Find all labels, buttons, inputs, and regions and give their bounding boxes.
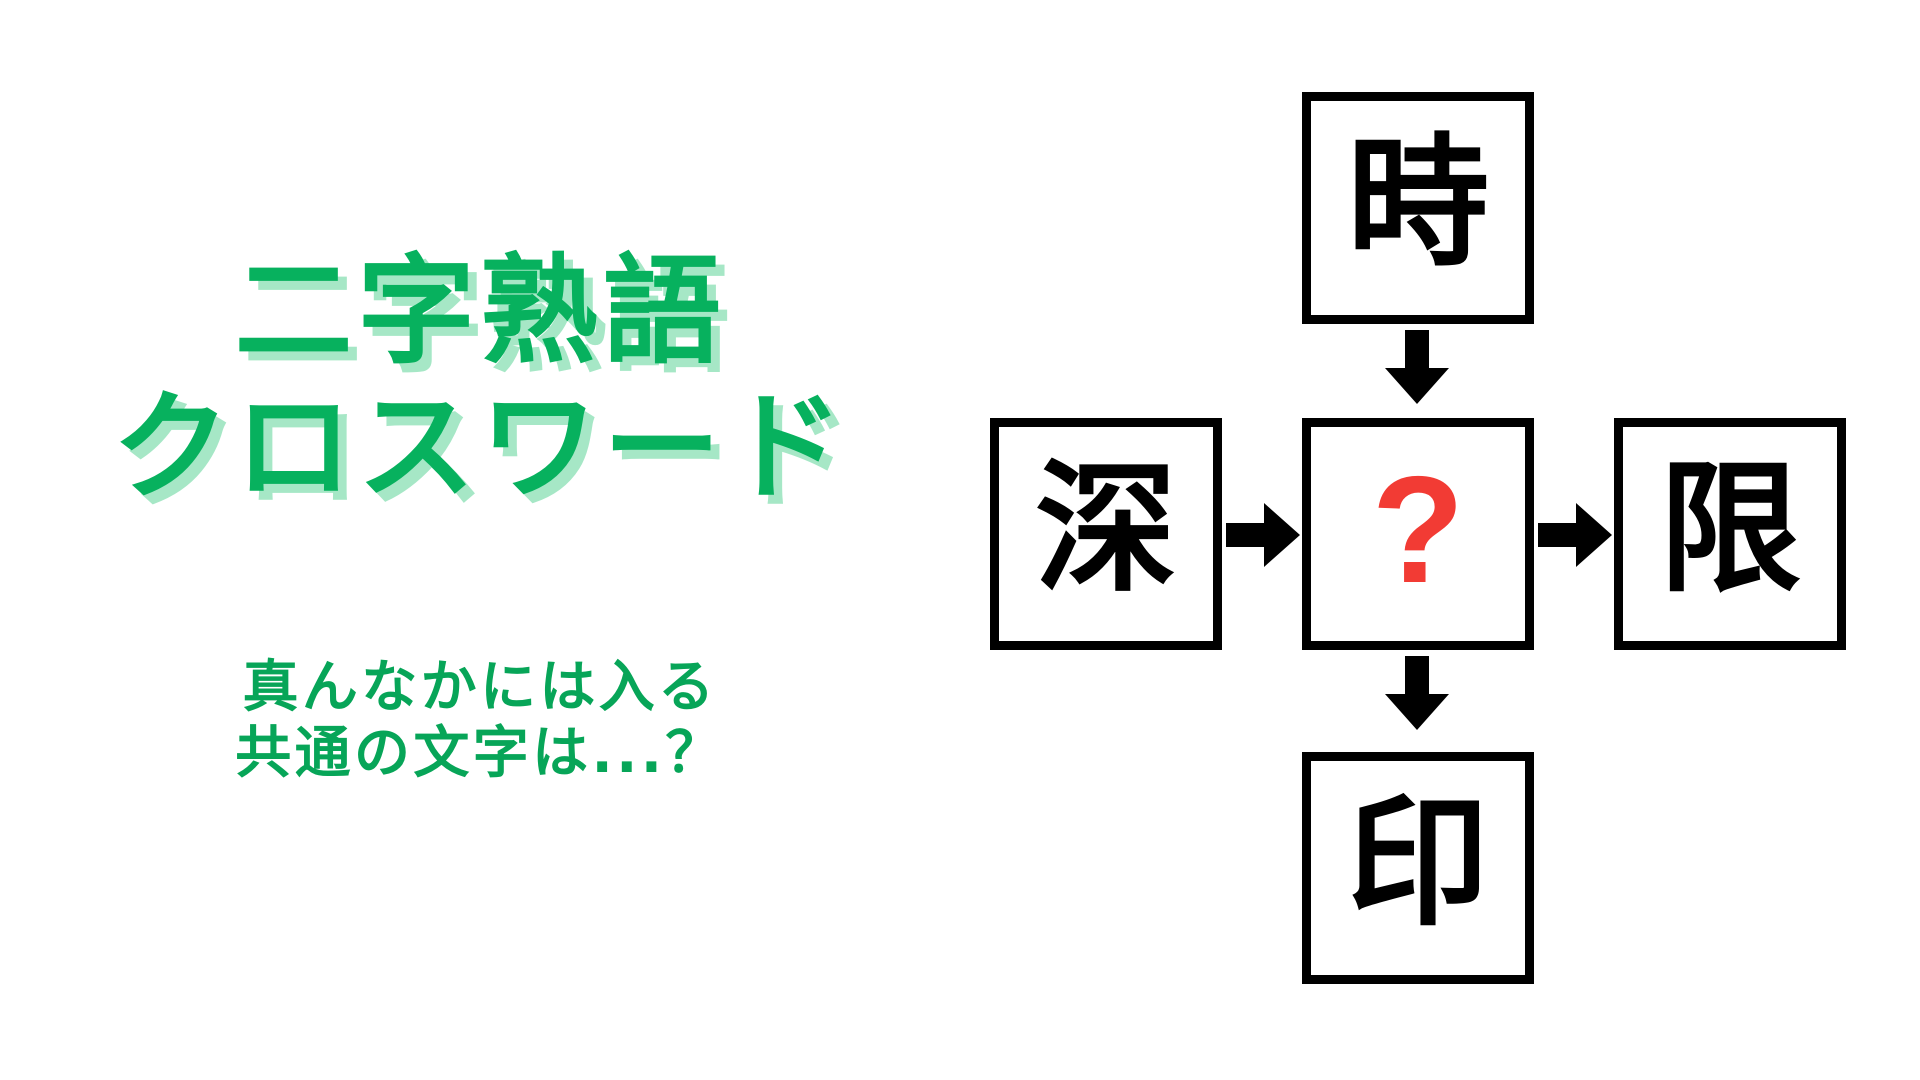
puzzle-cell-left-glyph: 深 <box>1035 459 1177 601</box>
arrow-right-icon-right <box>1538 498 1612 572</box>
title-line-secondary: クロスワード <box>0 388 960 506</box>
slide-canvas: 二字熟語 クロスワード 真んなかには入る 共通の文字は...？ 時 深 <box>0 0 1920 1080</box>
puzzle-cell-center[interactable]: ? <box>1302 418 1534 650</box>
puzzle-cell-left[interactable]: 深 <box>990 418 1222 650</box>
arrow-down-icon-top <box>1380 330 1454 404</box>
arrow-down-icon-bottom <box>1380 656 1454 730</box>
title-line-primary: 二字熟語 <box>0 252 960 370</box>
puzzle-cell-top-glyph: 時 <box>1347 133 1489 275</box>
title-panel: 二字熟語 クロスワード 真んなかには入る 共通の文字は...？ <box>0 0 980 1080</box>
subtitle-line-2: 共通の文字は...？ <box>0 721 960 787</box>
crossword-diagram: 時 深 ? 限 <box>960 0 1920 1080</box>
question-mark-icon: ? <box>1372 454 1465 606</box>
puzzle-cell-top[interactable]: 時 <box>1302 92 1534 324</box>
page-title: 二字熟語 クロスワード <box>0 252 960 506</box>
puzzle-cell-right[interactable]: 限 <box>1614 418 1846 650</box>
subtitle: 真んなかには入る 共通の文字は...？ <box>0 655 960 787</box>
puzzle-cell-bottom[interactable]: 印 <box>1302 752 1534 984</box>
puzzle-cell-right-glyph: 限 <box>1659 459 1801 601</box>
arrow-right-icon-left <box>1226 498 1300 572</box>
subtitle-line-1: 真んなかには入る <box>0 655 960 721</box>
puzzle-cell-bottom-glyph: 印 <box>1347 793 1489 935</box>
